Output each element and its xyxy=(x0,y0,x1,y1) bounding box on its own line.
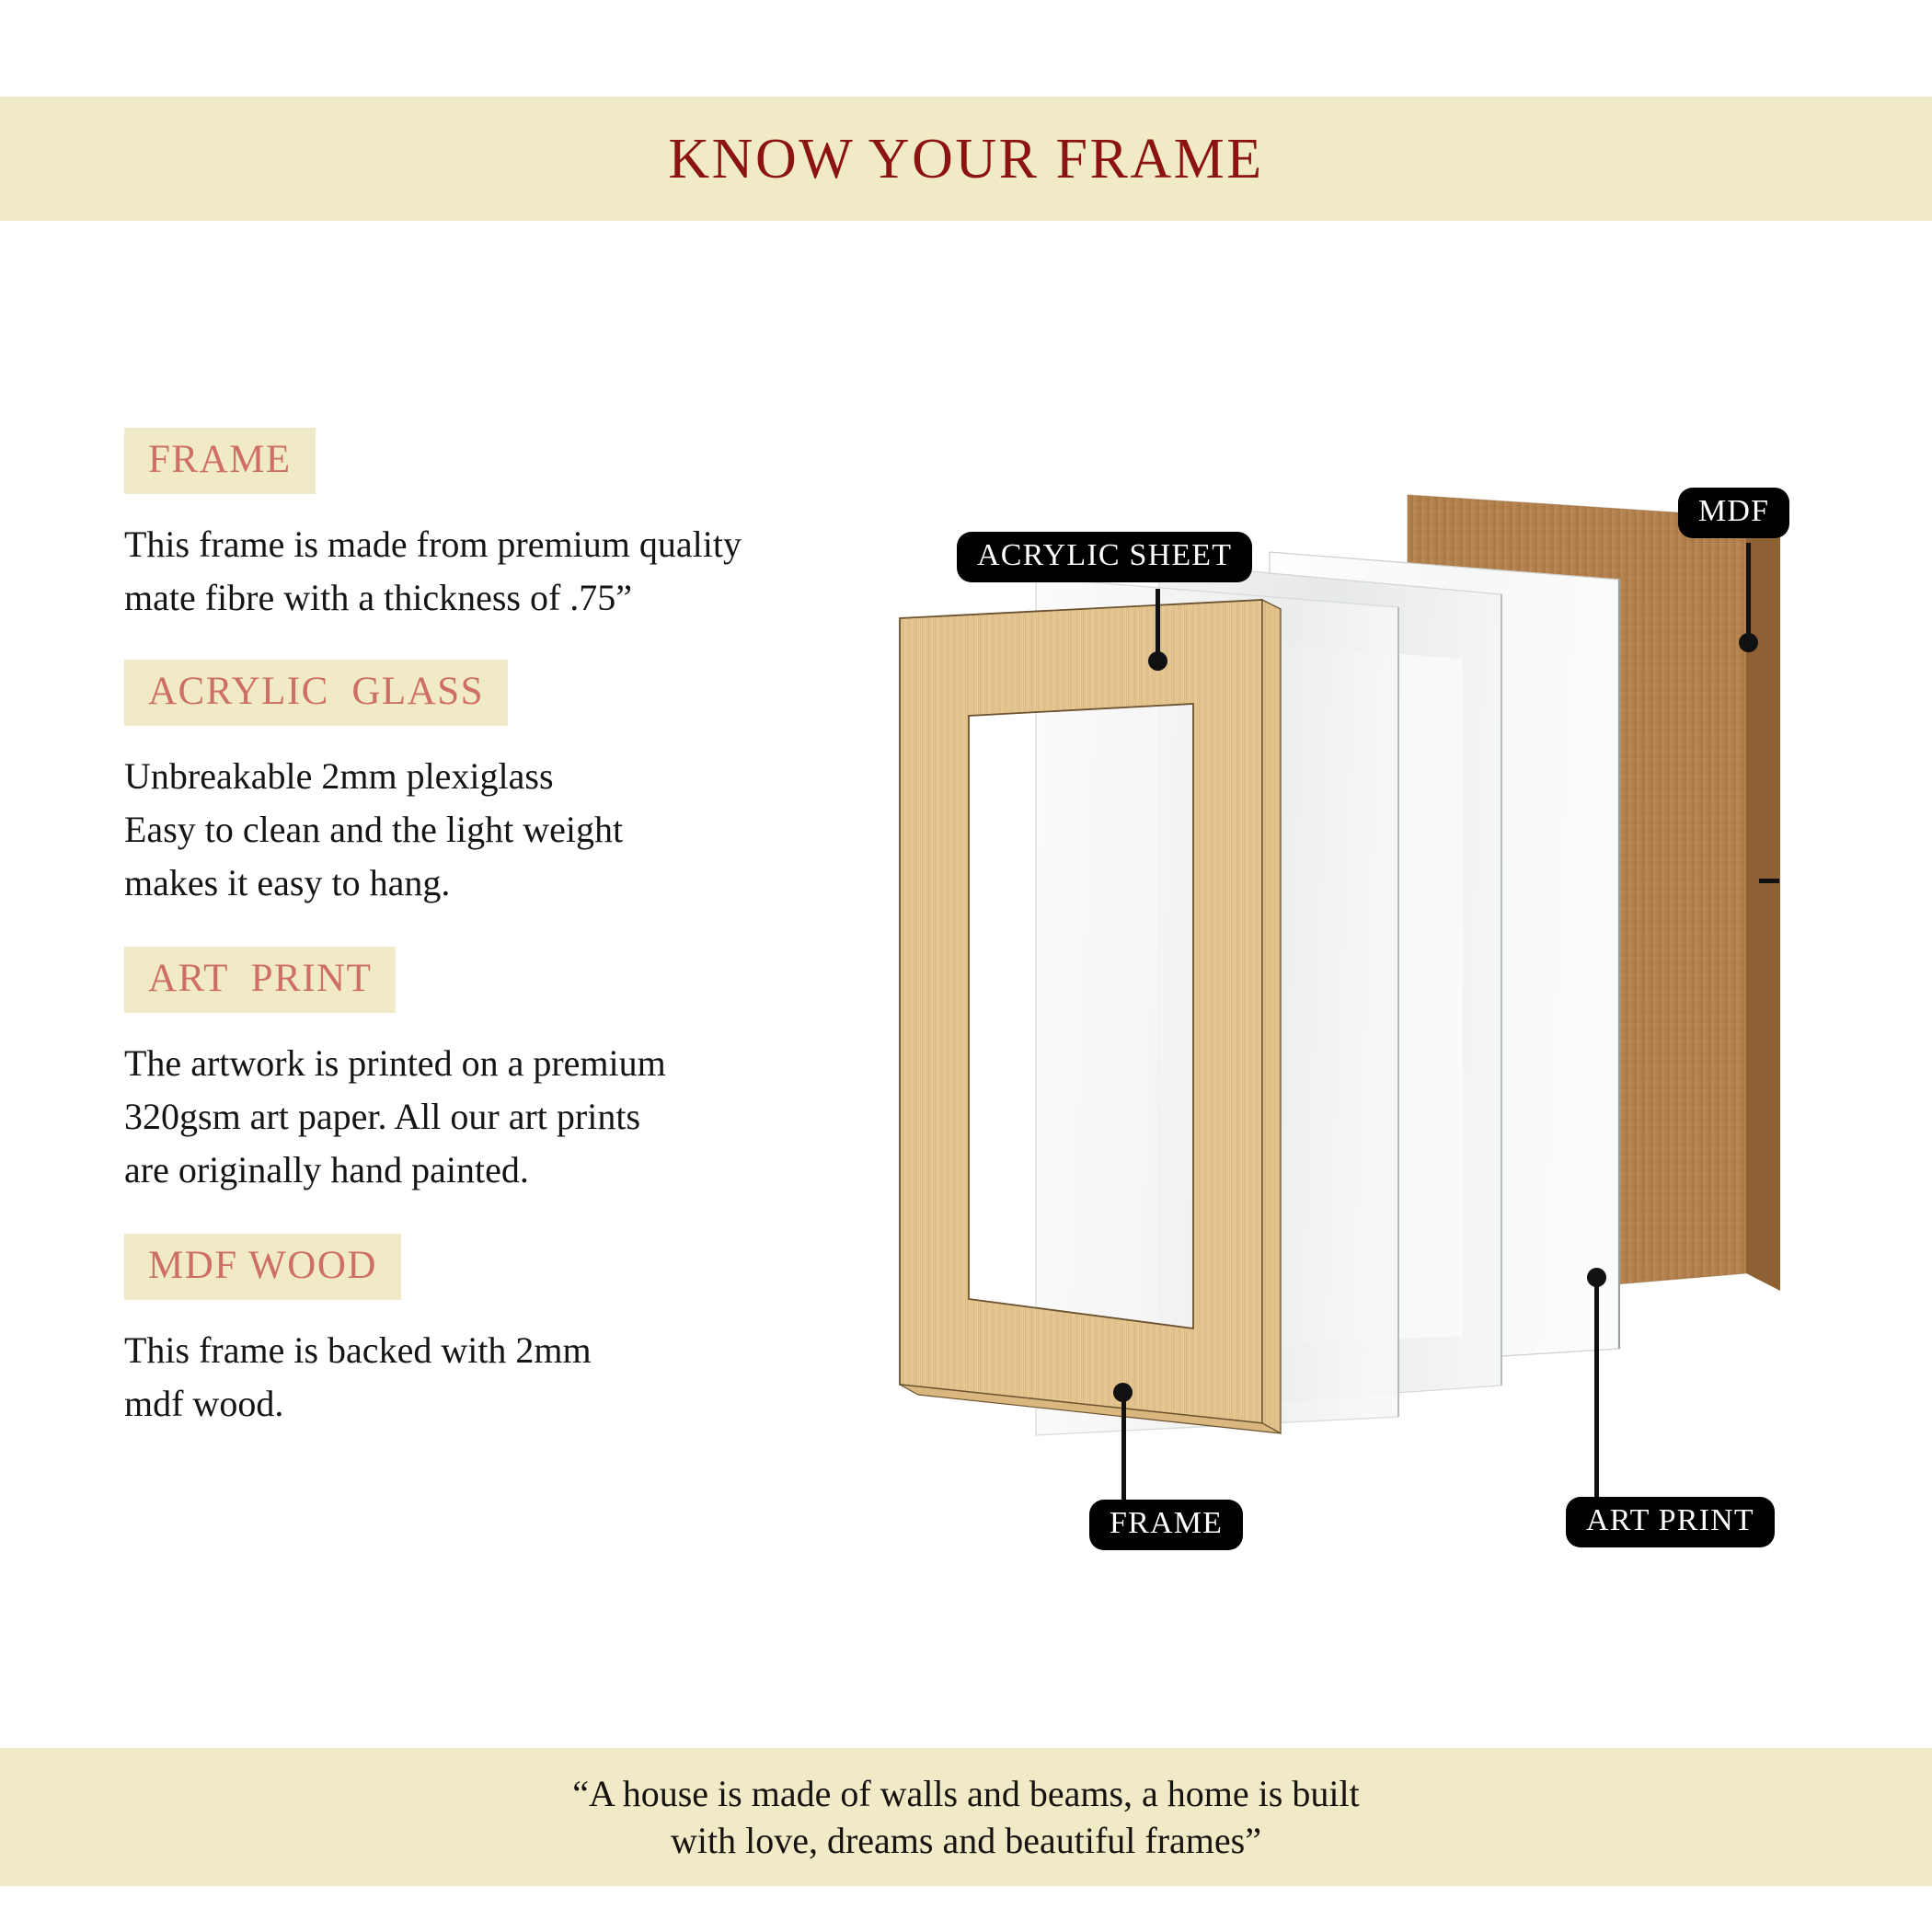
frame-thickness-right xyxy=(1262,600,1281,1433)
callout-label-frame: FRAME xyxy=(1089,1500,1243,1550)
header-band: KNOW YOUR FRAME xyxy=(0,97,1932,221)
section-art-print: ART PRINT The artwork is printed on a pr… xyxy=(124,947,888,1197)
callout-label-mdf: MDF xyxy=(1678,488,1789,538)
callout-label-acrylic-sheet: ACRYLIC SHEET xyxy=(957,532,1252,582)
section-body-art-print: The artwork is printed on a premium 320g… xyxy=(124,1037,888,1197)
section-heading-mdf-wood: MDF WOOD xyxy=(124,1234,401,1300)
section-body-frame: This frame is made from premium quality … xyxy=(124,518,888,625)
footer-quote-line-2: with love, dreams and beautiful frames” xyxy=(671,1817,1261,1864)
mdf-edge-tick xyxy=(1759,879,1779,883)
page-title: KNOW YOUR FRAME xyxy=(668,131,1263,188)
section-body-mdf-wood: This frame is backed with 2mm mdf wood. xyxy=(124,1324,888,1431)
section-acrylic-glass: ACRYLIC GLASS Unbreakable 2mm plexiglass… xyxy=(124,660,888,910)
anchor-dot-acrylic-sheet xyxy=(1148,651,1167,671)
description-column: FRAME This frame is made from premium qu… xyxy=(124,428,888,1471)
leader-line-frame xyxy=(1121,1391,1126,1506)
footer-quote-line-1: “A house is made of walls and beams, a h… xyxy=(572,1770,1359,1817)
anchor-dot-mdf xyxy=(1739,633,1758,652)
footer-band: “A house is made of walls and beams, a h… xyxy=(0,1748,1932,1886)
section-heading-frame: FRAME xyxy=(124,428,316,494)
exploded-frame-diagram xyxy=(883,460,1914,1610)
anchor-dot-frame xyxy=(1113,1383,1133,1402)
anchor-dot-art-print xyxy=(1587,1268,1606,1287)
section-frame: FRAME This frame is made from premium qu… xyxy=(124,428,888,625)
leader-line-mdf xyxy=(1746,543,1751,644)
section-heading-art-print: ART PRINT xyxy=(124,947,396,1013)
callout-label-art-print: ART PRINT xyxy=(1566,1497,1775,1547)
leader-line-art-print xyxy=(1594,1276,1599,1503)
section-body-acrylic-glass: Unbreakable 2mm plexiglass Easy to clean… xyxy=(124,750,888,910)
section-mdf-wood: MDF WOOD This frame is backed with 2mm m… xyxy=(124,1234,888,1431)
infographic-page: KNOW YOUR FRAME FRAME This frame is made… xyxy=(0,0,1932,1932)
section-heading-acrylic-glass: ACRYLIC GLASS xyxy=(124,660,508,726)
